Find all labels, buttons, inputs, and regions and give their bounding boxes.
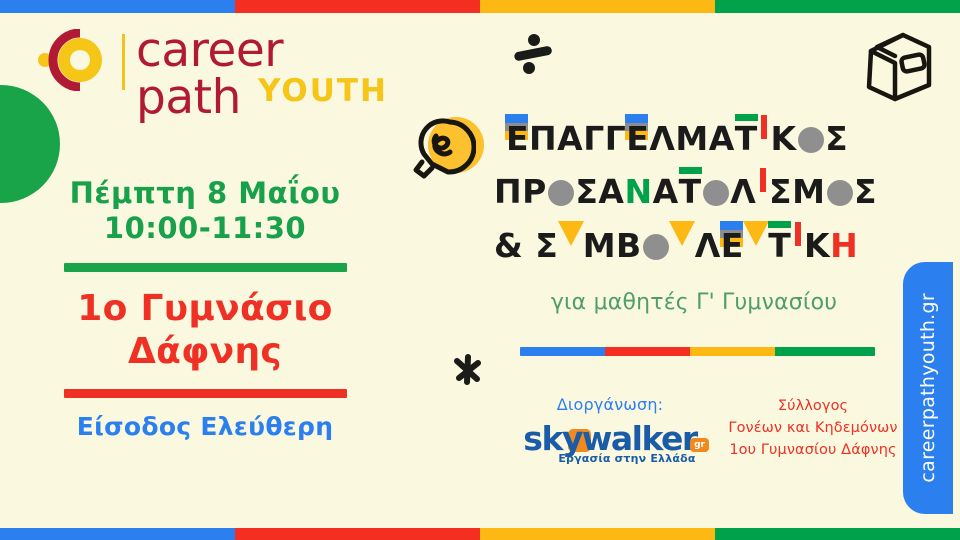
accent-segment-green [775, 347, 875, 356]
event-details-column: Πέμπτη 8 Μαΐου 10:00-11:30 1ο Γυμνάσιο Δ… [48, 176, 362, 441]
bottom-color-band [0, 528, 960, 540]
accent-segment-yellow [690, 347, 775, 356]
skywalker-tagline: Εργασία στην Ελλάδα [500, 452, 720, 465]
accent-segment-blue [520, 347, 605, 356]
headline-line-2: ΠΡΟΣΑΝΑΤΟΛΙΣΜΟΣ [494, 165, 894, 218]
website-url-label: careerpathyouth.gr [917, 293, 939, 483]
band-segment-green [715, 0, 960, 13]
divide-icon [512, 32, 554, 76]
star-asterisk-icon [450, 352, 486, 388]
letter-highlight-triangle: Υ [670, 219, 694, 272]
letter-highlight-triangle: Υ [558, 219, 582, 272]
headline-block: ΕΠΑΓΓΕΛΜΑΤΙΚΟΣ ΠΡΟΣΑΝΑΤΟΛΙΣΜΟΣ & ΣΥΜΒΟΥΛ… [494, 112, 894, 272]
organizer-block: Διοργάνωση: skywalker gr Εργασία στην Ελ… [500, 395, 720, 474]
letter-highlight-triangle: Υ [744, 219, 768, 272]
association-line-3: 1ου Γυμνασίου Δάφνης [718, 440, 908, 462]
letter-highlight-circle: Ο [797, 112, 826, 165]
divider-green [64, 263, 347, 272]
association-line-1: Σύλλογος [718, 396, 908, 418]
skywalker-logo[interactable]: skywalker gr Εργασία στην Ελλάδα [500, 422, 720, 474]
organizer-label: Διοργάνωση: [500, 395, 720, 414]
skywalker-wordmark: skywalker [500, 422, 720, 455]
logo-divider [122, 34, 125, 90]
event-time: 10:00-11:30 [48, 211, 362, 246]
band-segment-red [235, 0, 480, 13]
career-path-circle-logo [36, 29, 112, 91]
association-line-2: Γονέων και Κηδεμόνων [718, 418, 908, 440]
letter-highlight-circle: Ο [547, 165, 576, 218]
band-segment-green [715, 528, 960, 540]
headline-line-3: & ΣΥΜΒΟΥΛΕΥΤΙΚΗ [494, 219, 894, 272]
skywalker-gr-badge: gr [690, 438, 709, 452]
top-color-band [0, 0, 960, 13]
venue-line-2: Δάφνης [48, 330, 362, 373]
headline-subtitle: για μαθητές Γ' Γυμνασίου [494, 290, 894, 315]
lightbulb-icon [410, 112, 476, 184]
band-segment-blue [0, 0, 235, 13]
career-path-logo: career path YOUTH [36, 24, 396, 114]
letter-highlight-tbar: Τ [679, 165, 702, 218]
band-segment-red [235, 528, 480, 540]
letter-highlight-ibar: Ι [758, 112, 771, 165]
accent-color-band [520, 347, 875, 356]
venue-line-1: 1ο Γυμνάσιο [48, 287, 362, 330]
letter-highlight-bars: Ε [626, 112, 649, 165]
divider-red [64, 389, 347, 398]
letter-highlight-tbar: Τ [735, 112, 758, 165]
book-icon [855, 25, 941, 105]
letter-highlight-ibar: Ι [791, 219, 804, 272]
letter-highlight-tbar: Τ [768, 219, 791, 272]
letter-highlight-circle: Ο [642, 219, 671, 272]
logo-youth-label: YOUTH [258, 76, 388, 107]
letter-highlight-circle: Ο [825, 165, 854, 218]
headline-line-1: ΕΠΑΓΓΕΛΜΑΤΙΚΟΣ [506, 112, 894, 165]
accent-segment-red [605, 347, 690, 356]
website-tab[interactable]: careerpathyouth.gr [903, 262, 953, 514]
letter-highlight-bars: Ε [721, 219, 744, 272]
letter-highlight-circle: Ο [702, 165, 731, 218]
association-block: Σύλλογος Γονέων και Κηδεμόνων 1ου Γυμνασ… [718, 396, 908, 461]
letter-highlight-ibar: Ι [756, 165, 769, 218]
band-segment-yellow [480, 528, 715, 540]
band-segment-yellow [480, 0, 715, 13]
event-date: Πέμπτη 8 Μαΐου [48, 176, 362, 211]
poster-canvas: career path YOUTH [0, 0, 960, 540]
letter-highlight-bars: Ε [506, 112, 529, 165]
band-segment-blue [0, 528, 235, 540]
entry-free-label: Είσοδος Ελεύθερη [48, 412, 362, 441]
